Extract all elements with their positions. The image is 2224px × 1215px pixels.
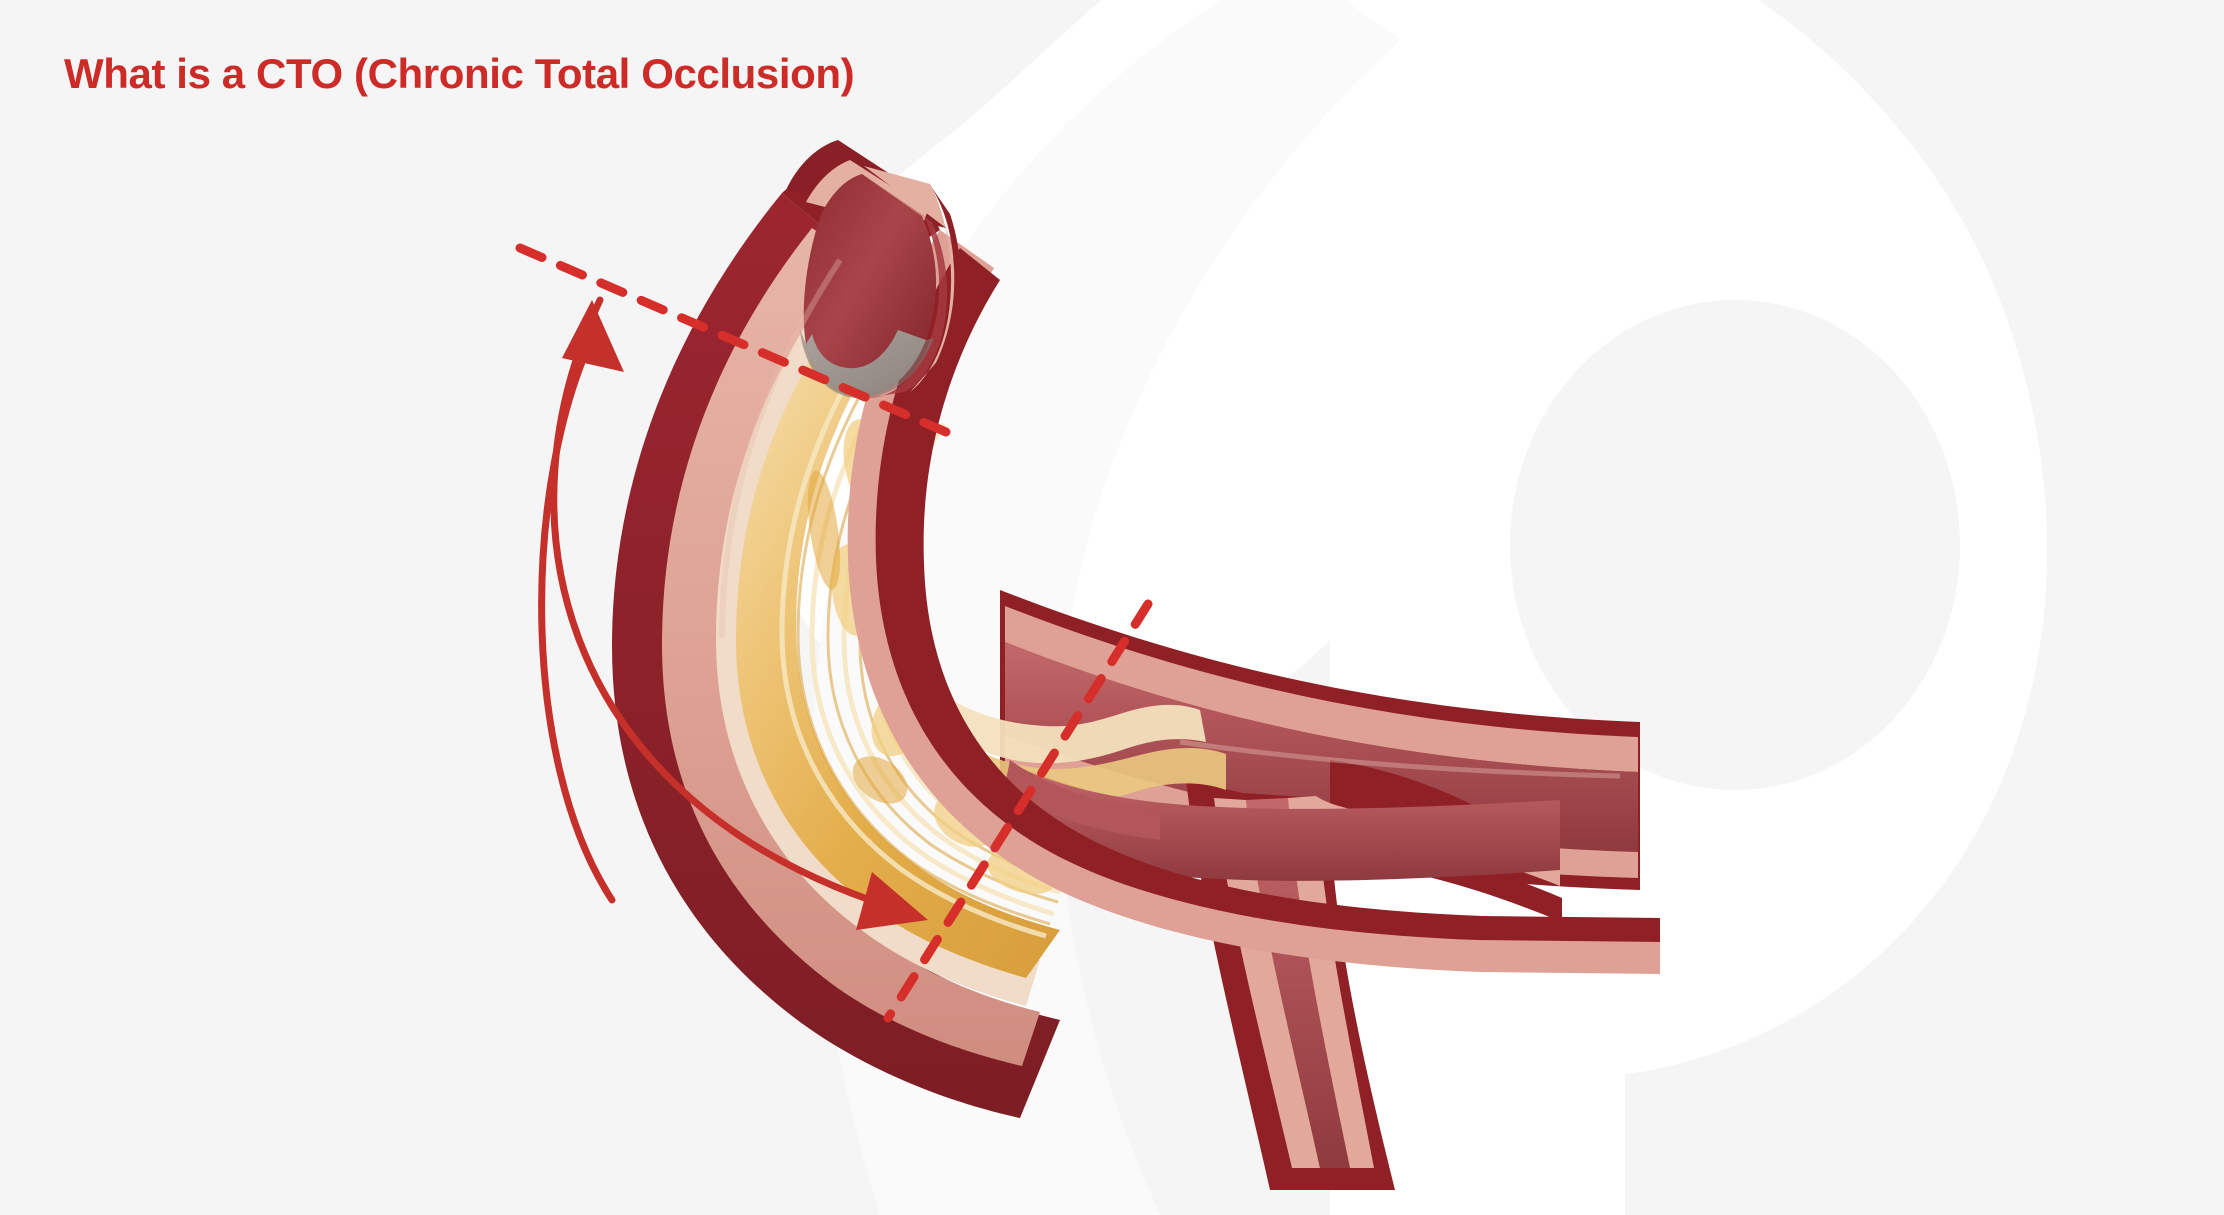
page-title: What is a CTO (Chronic Total Occlusion)	[64, 50, 854, 98]
occlusion-length-arrow-up	[542, 300, 624, 900]
artery-illustration	[0, 0, 2224, 1215]
illustration-canvas: What is a CTO (Chronic Total Occlusion)	[0, 0, 2224, 1215]
